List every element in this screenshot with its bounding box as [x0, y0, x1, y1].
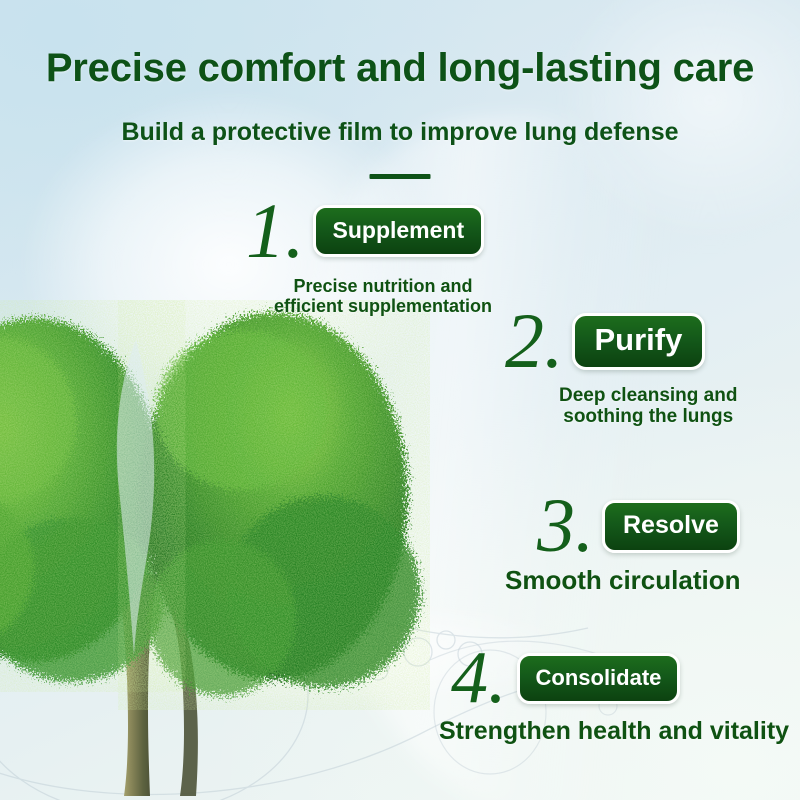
- step-1-header: 1. Supplement: [246, 196, 492, 266]
- tree-trunk: [64, 514, 216, 796]
- step-3-description: Smooth circulation: [505, 566, 740, 595]
- page-subtitle: Build a protective film to improve lung …: [0, 118, 800, 147]
- step-4-description: Strengthen health and vitality: [439, 717, 789, 745]
- step-4: 4. Consolidate Strengthen health and vit…: [451, 645, 789, 745]
- step-2-description: Deep cleansing and soothing the lungs: [559, 385, 737, 428]
- step-2: 2. Purify Deep cleansing and soothing th…: [505, 306, 737, 428]
- page-title: Precise comfort and long-lasting care: [0, 46, 800, 91]
- step-3-header: 3. Resolve: [537, 492, 740, 560]
- step-1-number: 1.: [246, 196, 305, 266]
- step-1: 1. Supplement Precise nutrition and effi…: [246, 196, 492, 317]
- step-3-number: 3.: [537, 492, 594, 560]
- step-1-badge[interactable]: Supplement: [313, 205, 485, 257]
- step-3: 3. Resolve Smooth circulation: [537, 492, 740, 596]
- canopy-right: [140, 312, 420, 696]
- step-1-description: Precise nutrition and efficient suppleme…: [274, 276, 492, 316]
- step-4-header: 4. Consolidate: [451, 645, 789, 712]
- step-4-badge[interactable]: Consolidate: [517, 653, 681, 704]
- step-4-number: 4.: [451, 645, 507, 712]
- step-2-header: 2. Purify: [505, 306, 737, 376]
- step-2-badge[interactable]: Purify: [572, 313, 706, 370]
- title-divider: [370, 174, 431, 179]
- step-3-badge[interactable]: Resolve: [602, 500, 740, 553]
- promo-poster: Precise comfort and long-lasting care Bu…: [0, 0, 800, 800]
- canopy-left: [0, 318, 164, 682]
- step-2-number: 2.: [505, 306, 564, 376]
- tree-lungs-artwork: [0, 300, 442, 800]
